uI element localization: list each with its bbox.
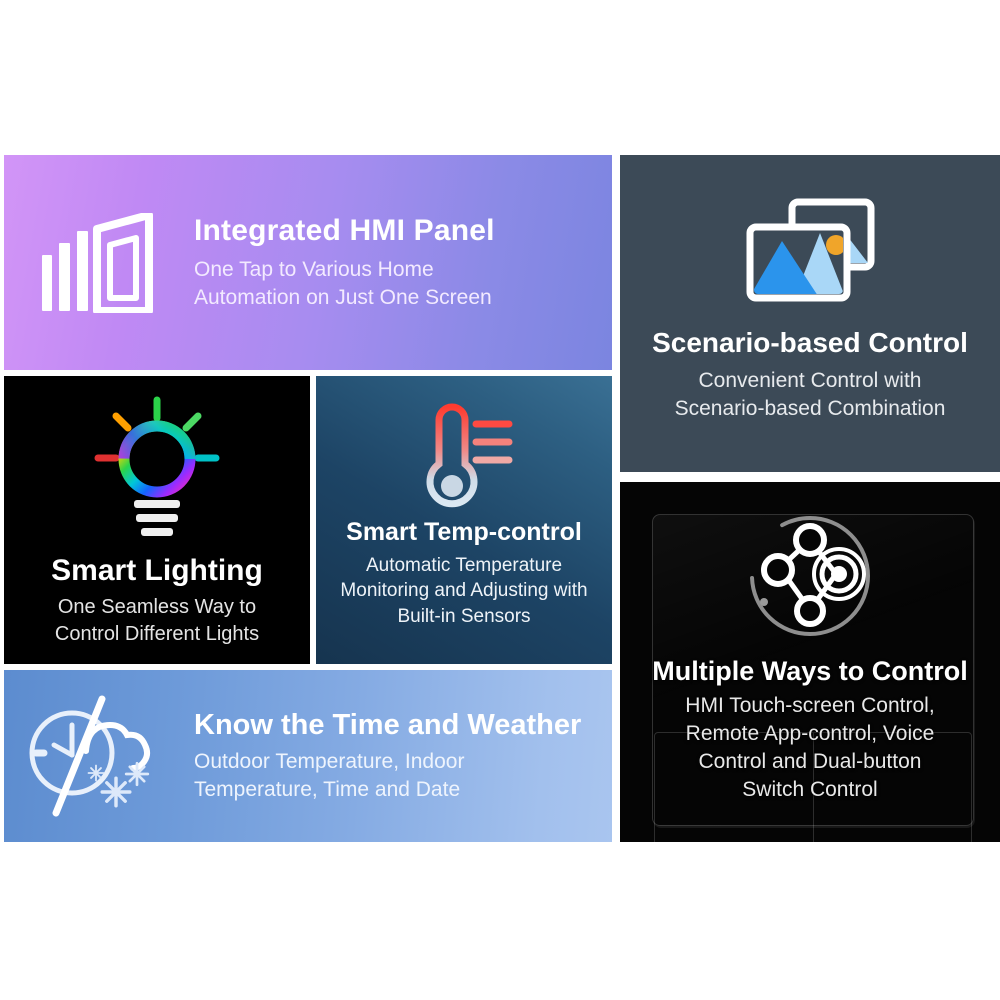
card-subtitle: One Tap to Various Home Automation on Ju… bbox=[194, 256, 495, 311]
subtitle-line-2: Remote App-control, Voice bbox=[685, 720, 934, 748]
hmi-panel-text: Integrated HMI Panel One Tap to Various … bbox=[194, 214, 509, 311]
card-subtitle: Convenient Control with Scenario-based C… bbox=[675, 367, 946, 424]
card-title: Multiple Ways to Control bbox=[652, 656, 967, 687]
subtitle-line-1: Convenient Control with bbox=[675, 367, 946, 395]
card-title: Know the Time and Weather bbox=[194, 709, 581, 742]
subtitle-line-1: HMI Touch-screen Control, bbox=[685, 692, 934, 720]
card-scenario-based-control[interactable]: Scenario-based Control Convenient Contro… bbox=[620, 155, 1000, 472]
subtitle-line-4: Switch Control bbox=[685, 776, 934, 804]
subtitle-line-2: Temperature, Time and Date bbox=[194, 776, 581, 804]
subtitle-line-1: One Seamless Way to bbox=[55, 594, 259, 621]
thermometer-icon bbox=[404, 400, 524, 510]
subtitle-line-2: Monitoring and Adjusting with bbox=[340, 578, 587, 603]
feature-grid: Integrated HMI Panel One Tap to Various … bbox=[0, 0, 1000, 1000]
subtitle-line-3: Control and Dual-button bbox=[685, 748, 934, 776]
subtitle-line-2: Control Different Lights bbox=[55, 621, 259, 648]
network-hub-icon bbox=[744, 510, 876, 642]
card-title: Smart Lighting bbox=[51, 554, 263, 588]
clock-cloud-snowflake-icon bbox=[24, 691, 174, 821]
multi-content: Multiple Ways to Control HMI Touch-scree… bbox=[652, 510, 967, 804]
card-subtitle: Automatic Temperature Monitoring and Adj… bbox=[340, 553, 587, 629]
subtitle-line-1: Outdoor Temperature, Indoor bbox=[194, 748, 581, 776]
card-integrated-hmi-panel[interactable]: Integrated HMI Panel One Tap to Various … bbox=[4, 155, 612, 370]
hmi-panel-icon bbox=[40, 213, 158, 313]
card-subtitle: One Seamless Way to Control Different Li… bbox=[55, 594, 259, 647]
card-title: Smart Temp-control bbox=[346, 518, 582, 547]
subtitle-line-3: Built-in Sensors bbox=[340, 604, 587, 629]
subtitle-line-2: Scenario-based Combination bbox=[675, 395, 946, 423]
weather-text: Know the Time and Weather Outdoor Temper… bbox=[194, 709, 581, 803]
card-smart-lighting[interactable]: Smart Lighting One Seamless Way to Contr… bbox=[4, 376, 310, 664]
card-know-time-weather[interactable]: Know the Time and Weather Outdoor Temper… bbox=[4, 670, 612, 842]
card-smart-temp-control[interactable]: Smart Temp-control Automatic Temperature… bbox=[316, 376, 612, 664]
card-title: Integrated HMI Panel bbox=[194, 214, 495, 247]
subtitle-line-1: One Tap to Various Home bbox=[194, 256, 495, 284]
stacked-photos-icon bbox=[744, 197, 876, 303]
card-title: Scenario-based Control bbox=[652, 327, 968, 359]
rgb-lightbulb-icon bbox=[92, 396, 222, 546]
card-subtitle: HMI Touch-screen Control, Remote App-con… bbox=[685, 692, 934, 804]
weather-icon-wrap bbox=[4, 691, 194, 821]
hmi-panel-icon-wrap bbox=[4, 213, 194, 313]
card-multiple-ways-to-control[interactable]: Multiple Ways to Control HMI Touch-scree… bbox=[620, 482, 1000, 842]
card-subtitle: Outdoor Temperature, Indoor Temperature,… bbox=[194, 748, 581, 803]
subtitle-line-2: Automation on Just One Screen bbox=[194, 284, 495, 312]
subtitle-line-1: Automatic Temperature bbox=[340, 553, 587, 578]
